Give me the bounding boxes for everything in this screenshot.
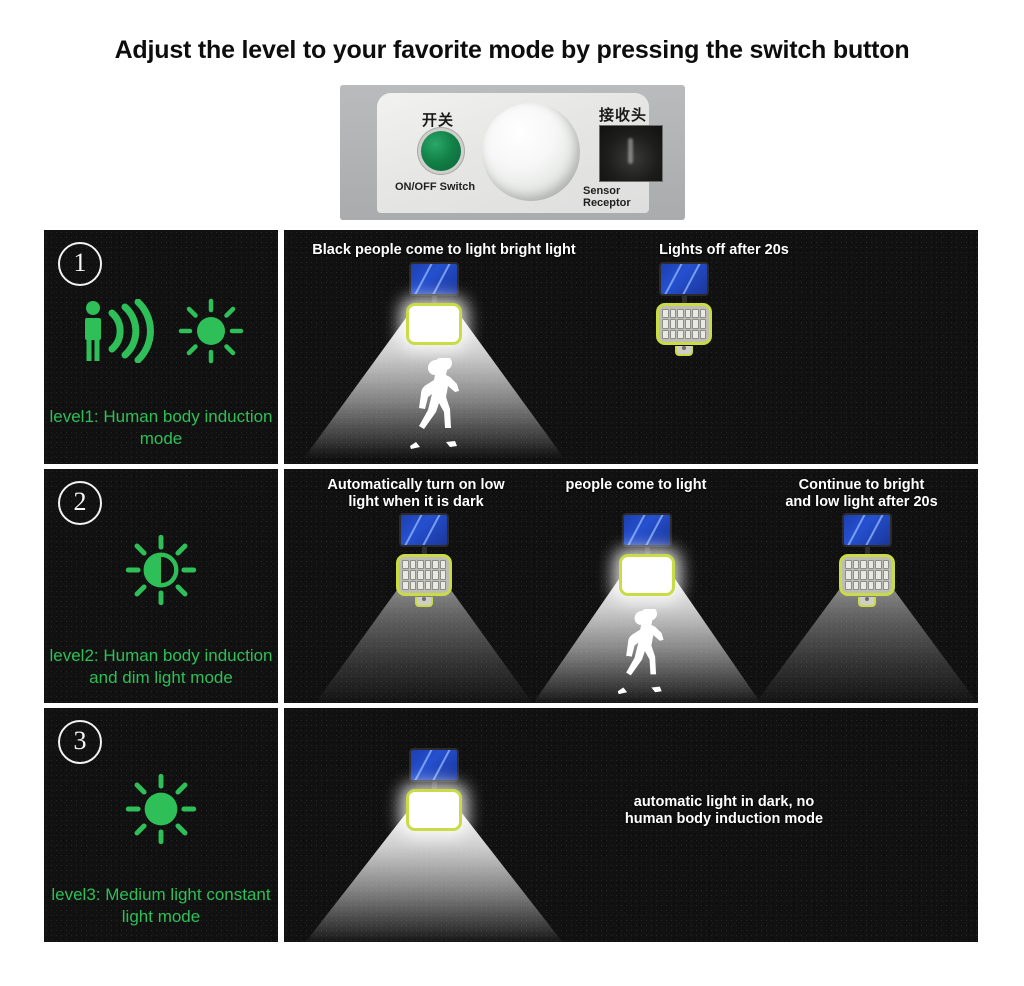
- solar-panel-icon: [842, 513, 892, 547]
- mode-icon-group-1: [44, 292, 278, 370]
- solar-panel-icon: [399, 513, 449, 547]
- mode-scene-cell-1: Black people come to light bright light …: [284, 230, 978, 464]
- page-title: Adjust the level to your favorite mode b…: [0, 36, 1024, 65]
- sensor-panel-face: 开关 ON/OFF Switch 接收头 Sensor Receptor: [377, 93, 649, 213]
- scene-caption-1-2: Lights off after 20s: [594, 242, 854, 259]
- mode-row-level3: 3 level3: Medium light co: [44, 708, 978, 942]
- lamp-head-off: [656, 303, 712, 345]
- lamp-sensor-bump: [415, 597, 433, 607]
- mode-icon-group-2: [44, 531, 278, 609]
- sun-icon: [125, 773, 197, 845]
- solar-panel-icon: [409, 262, 459, 296]
- lamp-sensor-bump: [675, 346, 693, 356]
- lamp-head-on: [406, 789, 462, 831]
- lamp-head-on: [406, 303, 462, 345]
- lamp-stem: [432, 782, 437, 789]
- mode-label-cell-2: 2 lev: [44, 469, 278, 703]
- scene-caption-1-1: Black people come to light bright light: [294, 242, 594, 259]
- lamp-unit-dim-2-1: [396, 513, 452, 607]
- mode-label-text-2: level2: Human body induction and dim lig…: [44, 645, 278, 689]
- mode-label-cell-1: 1: [44, 230, 278, 464]
- lamp-stem: [645, 547, 650, 554]
- walking-person-silhouette: [406, 358, 468, 450]
- mode-row-level1: 1: [44, 230, 978, 464]
- sensor-panel-photo: 开关 ON/OFF Switch 接收头 Sensor Receptor: [340, 85, 685, 220]
- scene-caption-2-2: people come to light: [536, 477, 736, 494]
- receptor-label-chinese: 接收头: [599, 104, 647, 125]
- lamp-head-dim: [396, 554, 452, 596]
- mode-label-cell-3: 3 level3: Medium light co: [44, 708, 278, 942]
- scene-caption-2-1: Automatically turn on low light when it …: [306, 477, 526, 511]
- lamp-stem: [682, 296, 687, 303]
- lamp-stem: [432, 296, 437, 303]
- lamp-stem: [422, 547, 427, 554]
- lamp-stem: [865, 547, 870, 554]
- lamp-unit-on-3: [406, 748, 462, 831]
- sensor-receptor-window: [599, 125, 663, 182]
- scene-caption-3-1: automatic light in dark, no human body i…: [574, 794, 874, 828]
- mode-number-badge-2: 2: [58, 481, 102, 525]
- mode-number-badge-1: 1: [58, 242, 102, 286]
- sun-icon: [178, 298, 244, 364]
- switch-label-chinese: 开关: [422, 109, 454, 130]
- mode-label-text-3: level3: Medium light constant light mode: [44, 884, 278, 928]
- mode-scene-cell-3: automatic light in dark, no human body i…: [284, 708, 978, 942]
- mode-row-level2: 2 lev: [44, 469, 978, 703]
- switch-label-english: ON/OFF Switch: [395, 181, 475, 193]
- mode-grid: 1: [44, 230, 978, 942]
- lamp-head-on: [619, 554, 675, 596]
- scene-caption-2-3: Continue to bright and low light after 2…: [754, 477, 969, 511]
- lamp-unit-on-2-2: [619, 513, 675, 596]
- led-array: [662, 309, 706, 339]
- lamp-unit-off-1: [656, 262, 712, 356]
- lamp-sensor-bump: [858, 597, 876, 607]
- lamp-head-dim: [839, 554, 895, 596]
- onoff-switch-button[interactable]: [421, 131, 461, 171]
- solar-panel-icon: [622, 513, 672, 547]
- led-array: [402, 560, 446, 590]
- lamp-unit-dim-2-3: [839, 513, 895, 607]
- lamp-unit-on-1: [406, 262, 462, 345]
- led-array: [845, 560, 889, 590]
- solar-panel-icon: [409, 748, 459, 782]
- solar-panel-icon: [659, 262, 709, 296]
- human-motion-icon: [78, 299, 164, 363]
- half-brightness-sun-icon: [125, 534, 197, 606]
- pir-dome-lens-icon: [482, 103, 580, 201]
- walking-person-silhouette: [614, 609, 672, 695]
- mode-icon-group-3: [44, 770, 278, 848]
- receptor-label-english: Sensor Receptor: [583, 185, 649, 209]
- mode-label-text-1: level1: Human body induction mode: [44, 406, 278, 450]
- mode-number-badge-3: 3: [58, 720, 102, 764]
- mode-scene-cell-2: Automatically turn on low light when it …: [284, 469, 978, 703]
